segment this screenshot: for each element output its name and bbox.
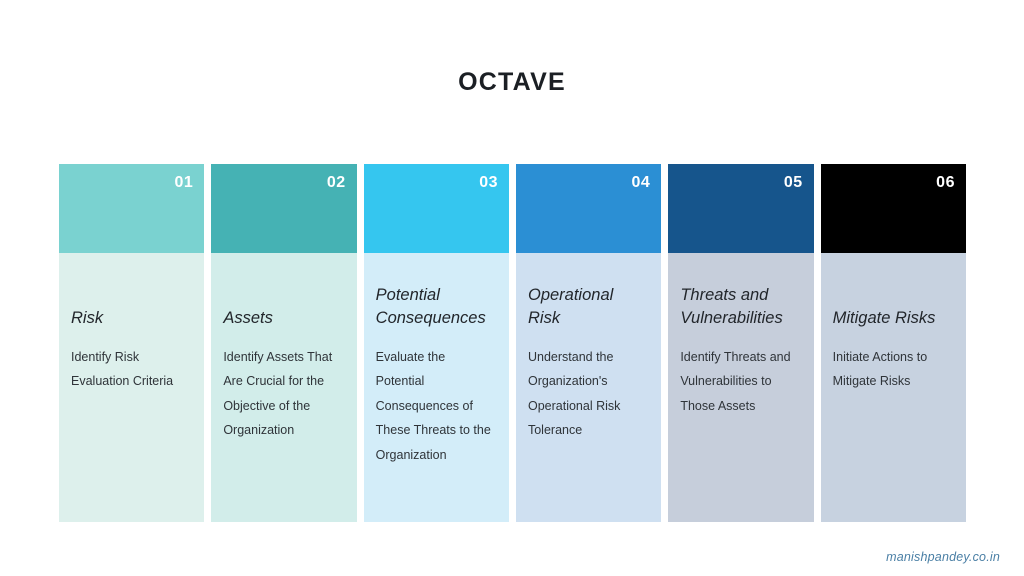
step-body-03: Potential Consequences Evaluate the Pote… (364, 253, 509, 522)
page-title: OCTAVE (0, 68, 1024, 97)
step-card-03: 03 Potential Consequences Evaluate the P… (364, 164, 509, 522)
step-number-04: 04 (632, 174, 651, 192)
step-title-wrap-01: Risk (71, 253, 192, 331)
step-card-05: 05 Threats and Vulnerabilities Identify … (668, 164, 813, 522)
step-number-02: 02 (327, 174, 346, 192)
step-title-wrap-04: Operational Risk (528, 253, 649, 331)
step-title-06: Mitigate Risks (833, 307, 954, 329)
step-title-wrap-02: Assets (223, 253, 344, 331)
step-title-02: Assets (223, 307, 344, 329)
step-header-05: 05 (668, 164, 813, 253)
step-number-01: 01 (175, 174, 194, 192)
step-description-03: Evaluate the Potential Consequences of T… (376, 345, 497, 467)
step-body-02: Assets Identify Assets That Are Crucial … (211, 253, 356, 522)
step-title-05: Threats and Vulnerabilities (680, 284, 801, 329)
step-title-04: Operational Risk (528, 284, 649, 329)
step-title-wrap-05: Threats and Vulnerabilities (680, 253, 801, 331)
step-header-02: 02 (211, 164, 356, 253)
slide-canvas: OCTAVE 01 Risk Identify Risk Evaluation … (0, 0, 1024, 576)
step-header-01: 01 (59, 164, 204, 253)
step-header-06: 06 (821, 164, 966, 253)
site-watermark: manishpandey.co.in (886, 550, 1000, 564)
step-header-03: 03 (364, 164, 509, 253)
step-card-02: 02 Assets Identify Assets That Are Cruci… (211, 164, 356, 522)
step-description-06: Initiate Actions to Mitigate Risks (833, 345, 954, 394)
step-header-04: 04 (516, 164, 661, 253)
process-steps-row: 01 Risk Identify Risk Evaluation Criteri… (59, 164, 966, 522)
step-body-06: Mitigate Risks Initiate Actions to Mitig… (821, 253, 966, 522)
step-card-04: 04 Operational Risk Understand the Organ… (516, 164, 661, 522)
step-title-wrap-06: Mitigate Risks (833, 253, 954, 331)
step-number-03: 03 (479, 174, 498, 192)
step-number-06: 06 (936, 174, 955, 192)
step-description-05: Identify Threats and Vulnerabilities to … (680, 345, 801, 418)
step-title-01: Risk (71, 307, 192, 329)
step-description-01: Identify Risk Evaluation Criteria (71, 345, 192, 394)
step-card-06: 06 Mitigate Risks Initiate Actions to Mi… (821, 164, 966, 522)
step-body-01: Risk Identify Risk Evaluation Criteria (59, 253, 204, 522)
step-card-01: 01 Risk Identify Risk Evaluation Criteri… (59, 164, 204, 522)
step-number-05: 05 (784, 174, 803, 192)
step-description-02: Identify Assets That Are Crucial for the… (223, 345, 344, 443)
step-description-04: Understand the Organization's Operationa… (528, 345, 649, 443)
step-title-wrap-03: Potential Consequences (376, 253, 497, 331)
step-body-05: Threats and Vulnerabilities Identify Thr… (668, 253, 813, 522)
step-title-03: Potential Consequences (376, 284, 497, 329)
step-body-04: Operational Risk Understand the Organiza… (516, 253, 661, 522)
